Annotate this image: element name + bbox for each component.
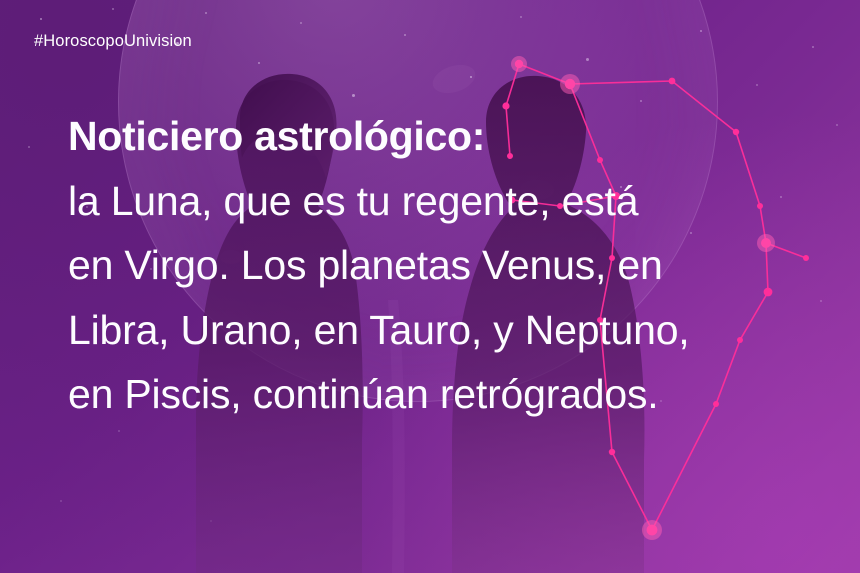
headline-text: Noticiero astrológico:: [68, 104, 858, 169]
body-line-1: la Luna, que es tu regente, está: [68, 169, 858, 234]
body-line-3: Libra, Urano, en Tauro, y Neptuno,: [68, 298, 858, 363]
body-line-4: en Piscis, continúan retrógrados.: [68, 362, 858, 427]
body-line-2: en Virgo. Los planetas Venus, en: [68, 233, 858, 298]
hashtag-label: #HoroscopoUnivision: [34, 32, 192, 51]
horoscope-card: #HoroscopoUnivision Noticiero astrológic…: [0, 0, 860, 573]
horoscope-text-block: Noticiero astrológico: la Luna, que es t…: [68, 104, 858, 427]
